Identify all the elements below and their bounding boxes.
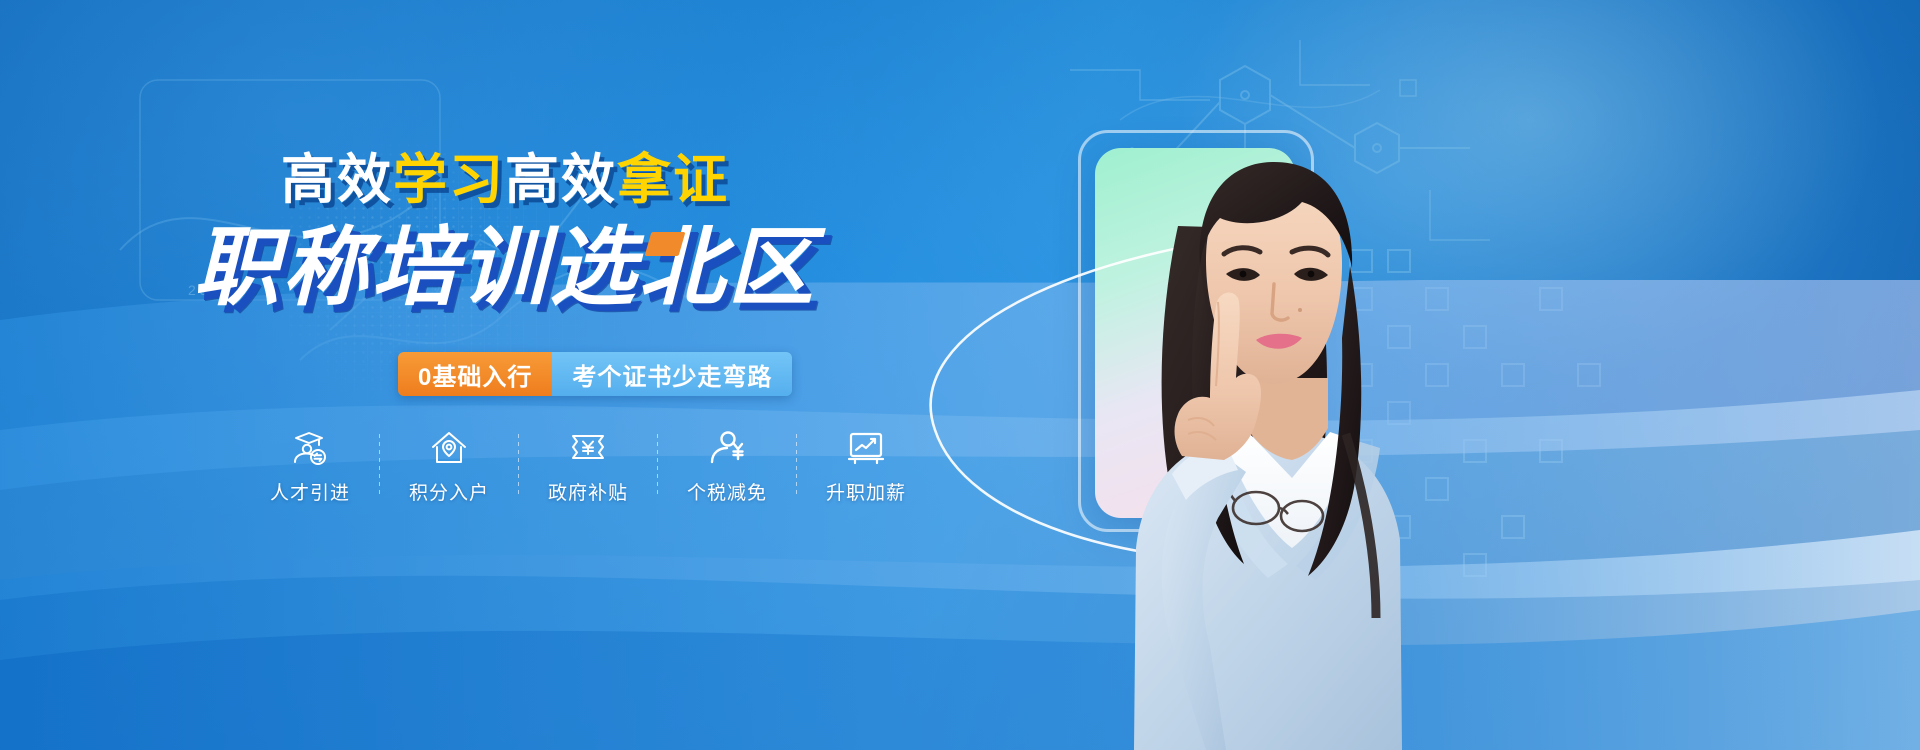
graduation-cap-person-icon xyxy=(290,428,330,468)
headline: 职称培训选北区 xyxy=(0,225,1010,311)
feature-item-subsidy[interactable]: 政府补贴 xyxy=(533,428,643,505)
headline-text: 职称培训选北区 xyxy=(194,225,817,311)
tagline-pill: 0基础入行 考个证书少走弯路 xyxy=(398,352,792,396)
tagline-badge: 0基础入行 xyxy=(398,352,552,396)
orange-accent-stroke xyxy=(645,232,686,256)
feature-item-promotion[interactable]: 升职加薪 xyxy=(811,428,921,505)
feature-divider xyxy=(518,434,519,496)
feature-divider xyxy=(379,434,380,496)
copy-block: 高效学习高效拿证 职称培训选北区 0基础入行 考个证书少走弯路 xyxy=(0,0,1060,750)
woman-pointing-photo xyxy=(1010,78,1470,750)
feature-label: 升职加薪 xyxy=(826,478,906,505)
subheadline-part-4-highlight: 拿证 xyxy=(617,150,729,210)
promo-banner: 2 39 xyxy=(0,0,1920,750)
feature-divider xyxy=(657,434,658,496)
subheadline-part-1: 高效 xyxy=(281,150,393,210)
subheadline: 高效学习高效拿证 xyxy=(0,153,1010,207)
feature-divider xyxy=(796,434,797,496)
subheadline-part-3: 高效 xyxy=(505,150,617,210)
ticket-yuan-icon xyxy=(568,428,608,468)
chart-growth-board-icon xyxy=(846,428,886,468)
feature-label: 人才引进 xyxy=(270,478,350,505)
tagline-text: 考个证书少走弯路 xyxy=(552,352,792,396)
subheadline-part-2-highlight: 学习 xyxy=(393,150,505,210)
house-location-pin-icon xyxy=(429,428,469,468)
feature-item-tax[interactable]: 个税减免 xyxy=(672,428,782,505)
person-yuan-icon xyxy=(707,428,747,468)
feature-label: 个税减免 xyxy=(687,478,767,505)
feature-list: 人才引进 积分入户 xyxy=(255,428,921,505)
feature-label: 积分入户 xyxy=(409,478,489,505)
feature-item-talent[interactable]: 人才引进 xyxy=(255,428,365,505)
feature-item-residency[interactable]: 积分入户 xyxy=(394,428,504,505)
feature-label: 政府补贴 xyxy=(548,478,628,505)
